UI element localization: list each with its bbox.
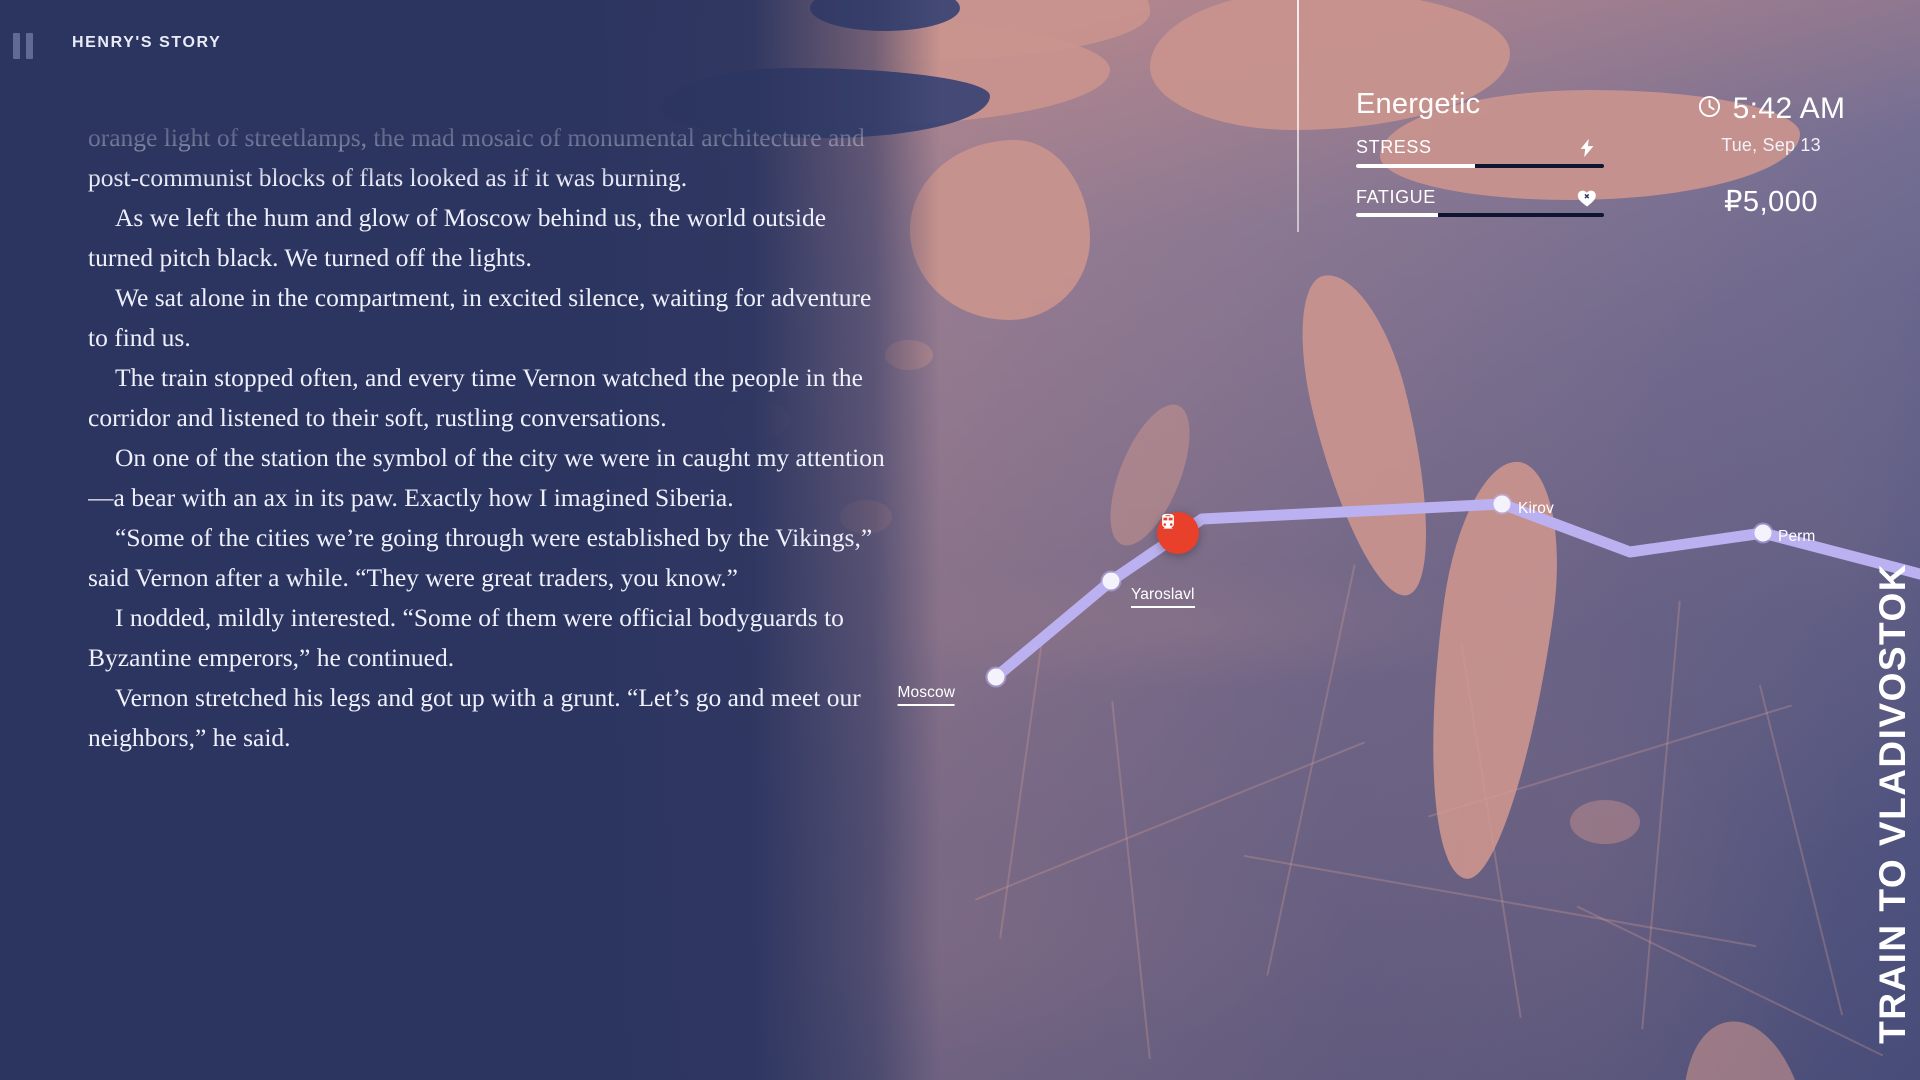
clock-icon — [1697, 94, 1722, 124]
story-paragraph: The train stopped often, and every time … — [88, 358, 888, 438]
stat-label: STRESS — [1356, 136, 1608, 159]
game-screen: orange light of streetlamps, the mad mos… — [0, 0, 1920, 1080]
stat-fill — [1356, 213, 1438, 217]
story-paragraph: “Some of the cities we’re going through … — [88, 518, 888, 598]
mood-label: Energetic — [1356, 90, 1608, 119]
clock-block: 5:42 AM Tue, Sep 13 ₽5,000 — [1646, 92, 1896, 219]
hud-divider — [1297, 0, 1299, 232]
story-paragraph: We sat alone in the compartment, in exci… — [88, 278, 888, 358]
story-paragraph: I nodded, mildly interested. “Some of th… — [88, 598, 888, 678]
stat-fill — [1356, 164, 1475, 168]
current-date: Tue, Sep 13 — [1646, 135, 1896, 156]
stat-fatigue: FATIGUE — [1356, 186, 1608, 218]
story-paragraph: Vernon stretched his legs and got up wit… — [88, 678, 888, 758]
story-paragraph: orange light of streetlamps, the mad mos… — [88, 118, 888, 198]
page-title: HENRY'S STORY — [72, 34, 221, 52]
story-paragraph: On one of the station the symbol of the … — [88, 438, 888, 518]
status-hud: Energetic STRESS FATIGUE — [1356, 90, 1608, 235]
journey-title: TRAIN TO VLADIVOSTOK — [1872, 563, 1914, 1044]
current-time: 5:42 AM — [1733, 92, 1846, 126]
time-row: 5:42 AM — [1646, 92, 1896, 126]
lightning-bolt-icon — [1574, 134, 1600, 162]
story-text: orange light of streetlamps, the mad mos… — [88, 118, 888, 758]
story-paragraph: As we left the hum and glow of Moscow be… — [88, 198, 888, 278]
stat-track — [1356, 213, 1604, 217]
stat-label: FATIGUE — [1356, 186, 1608, 209]
stat-stress: STRESS — [1356, 136, 1608, 168]
stat-track — [1356, 164, 1604, 168]
pause-icon[interactable] — [13, 33, 35, 59]
money-balance: ₽5,000 — [1646, 184, 1896, 219]
broken-heart-icon — [1574, 184, 1600, 212]
